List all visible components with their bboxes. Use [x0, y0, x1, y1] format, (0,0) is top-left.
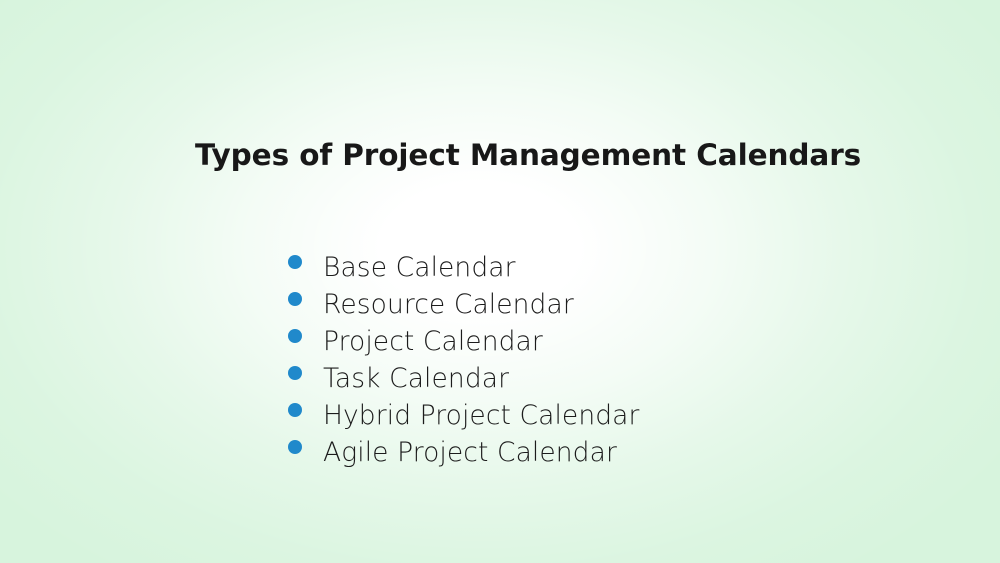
circle-bullet-icon [288, 366, 302, 380]
list-item-label: Task Calendar [323, 360, 509, 397]
circle-bullet-icon [288, 255, 302, 269]
circle-bullet-icon [288, 440, 302, 454]
list-item-label: Resource Calendar [323, 286, 574, 323]
page-title: Types of Project Management Calendars [195, 138, 855, 173]
list-item: Hybrid Project Calendar [288, 397, 639, 434]
list-item: Resource Calendar [288, 286, 639, 323]
bullet-list: Base Calendar Resource Calendar Project … [288, 249, 639, 471]
list-item: Task Calendar [288, 360, 639, 397]
list-item: Agile Project Calendar [288, 434, 639, 471]
list-item-label: Hybrid Project Calendar [323, 397, 639, 434]
circle-bullet-icon [288, 292, 302, 306]
circle-bullet-icon [288, 403, 302, 417]
title-block: Types of Project Management Calendars [195, 138, 855, 173]
list-item-label: Project Calendar [323, 323, 543, 360]
list-item-label: Agile Project Calendar [323, 434, 617, 471]
circle-bullet-icon [288, 329, 302, 343]
list-item: Project Calendar [288, 323, 639, 360]
list-item: Base Calendar [288, 249, 639, 286]
list-item-label: Base Calendar [323, 249, 516, 286]
presentation-slide: Types of Project Management Calendars Ba… [0, 0, 1000, 563]
